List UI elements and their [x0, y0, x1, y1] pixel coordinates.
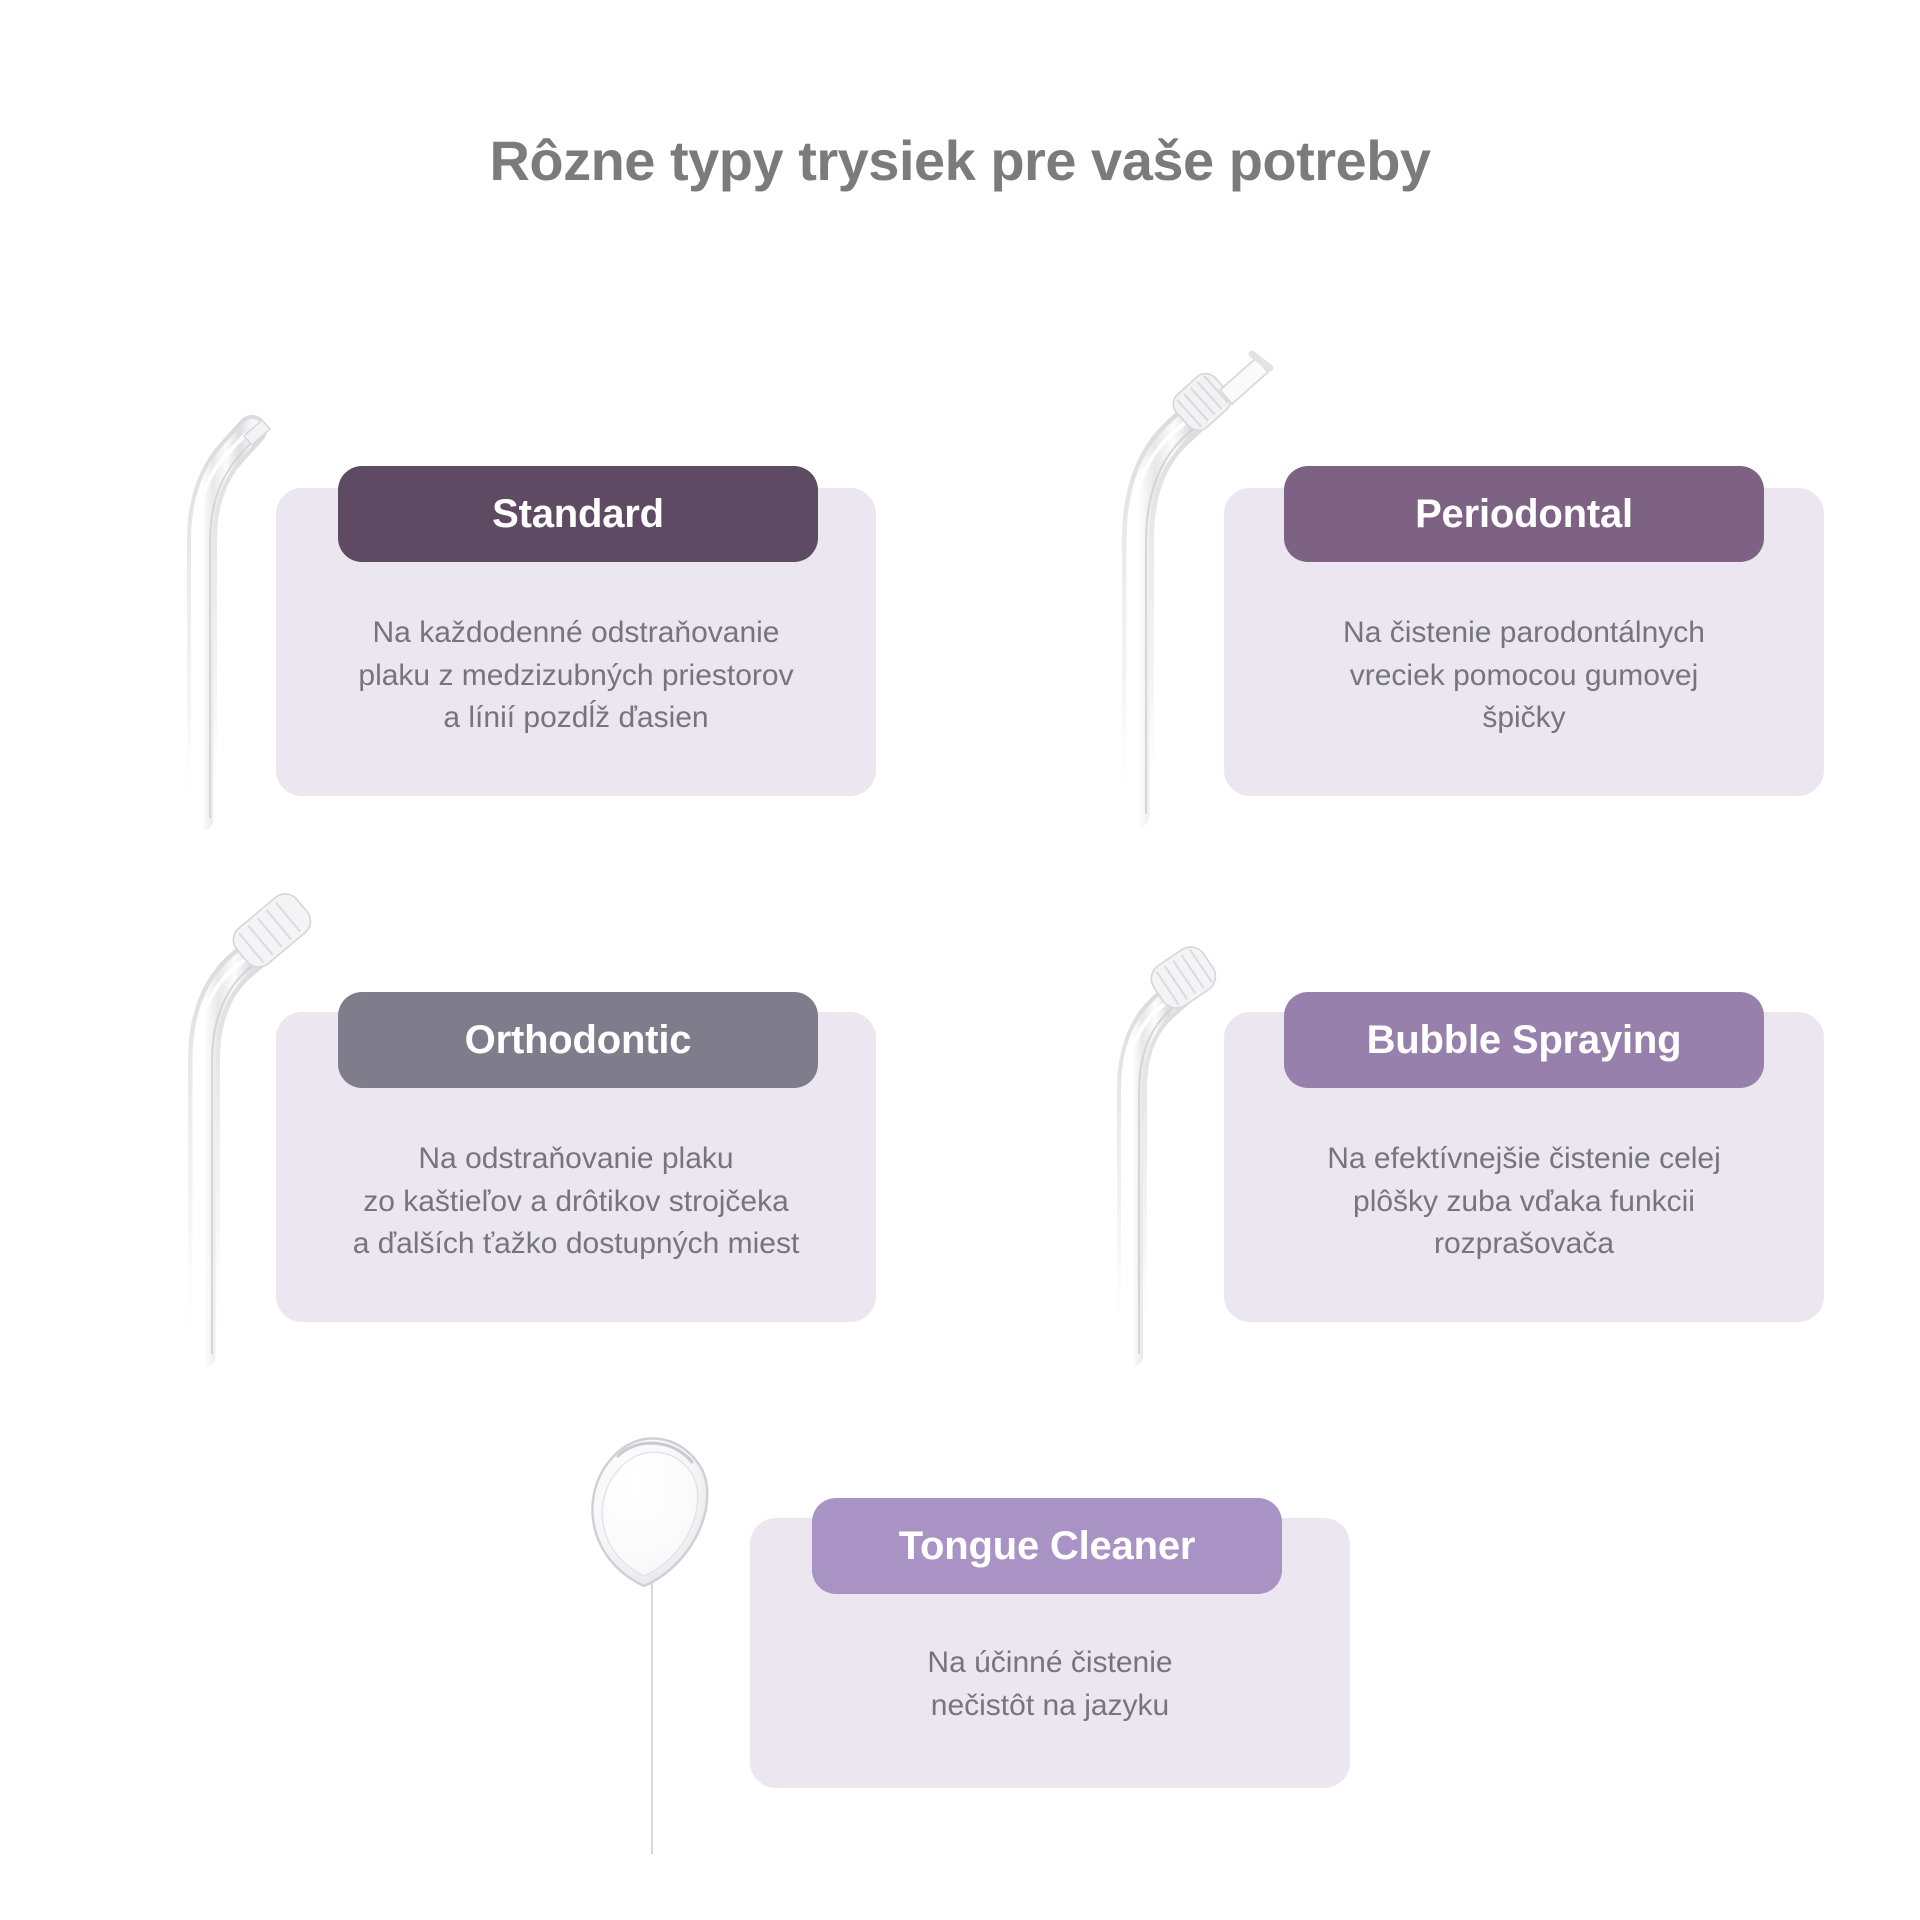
description-line: plaku z medzizubných priestorov: [286, 655, 866, 698]
description-line: rozprašovača: [1234, 1223, 1814, 1266]
tongue-cleaner-nozzle-icon: [540, 1400, 760, 1870]
periodontal-nozzle-icon: [1080, 330, 1310, 830]
page-title: Rôzne typy trysiek pre vaše potreby: [0, 130, 1920, 192]
badge-standard[interactable]: Standard: [338, 466, 818, 562]
description-tongue-cleaner: Na účinné čistenie nečistôt na jazyku: [760, 1642, 1340, 1727]
badge-bubble-spraying[interactable]: Bubble Spraying: [1284, 992, 1764, 1088]
description-line: Na efektívnejšie čistenie celej: [1234, 1138, 1814, 1181]
badge-orthodontic[interactable]: Orthodontic: [338, 992, 818, 1088]
description-line: nečistôt na jazyku: [760, 1685, 1340, 1728]
bubble-spraying-nozzle-icon: [1080, 920, 1300, 1370]
description-periodontal: Na čistenie parodontálnych vreciek pomoc…: [1234, 612, 1814, 740]
description-line: vreciek pomocou gumovej: [1234, 655, 1814, 698]
infographic-page: Rôzne typy trysiek pre vaše potreby Stan…: [0, 0, 1920, 1920]
description-line: plôšky zuba vďaka funkcii: [1234, 1181, 1814, 1224]
description-line: Na účinné čistenie: [760, 1642, 1340, 1685]
badge-periodontal[interactable]: Periodontal: [1284, 466, 1764, 562]
description-line: Na každodenné odstraňovanie: [286, 612, 866, 655]
description-standard: Na každodenné odstraňovanie plaku z medz…: [286, 612, 866, 740]
description-line: Na čistenie parodontálnych: [1234, 612, 1814, 655]
orthodontic-nozzle-icon: [150, 870, 380, 1370]
description-line: špičky: [1234, 697, 1814, 740]
standard-nozzle-icon: [140, 390, 340, 840]
description-line: a línií pozdĺž ďasien: [286, 697, 866, 740]
badge-tongue-cleaner[interactable]: Tongue Cleaner: [812, 1498, 1282, 1594]
description-bubble-spraying: Na efektívnejšie čistenie celej plôšky z…: [1234, 1138, 1814, 1266]
